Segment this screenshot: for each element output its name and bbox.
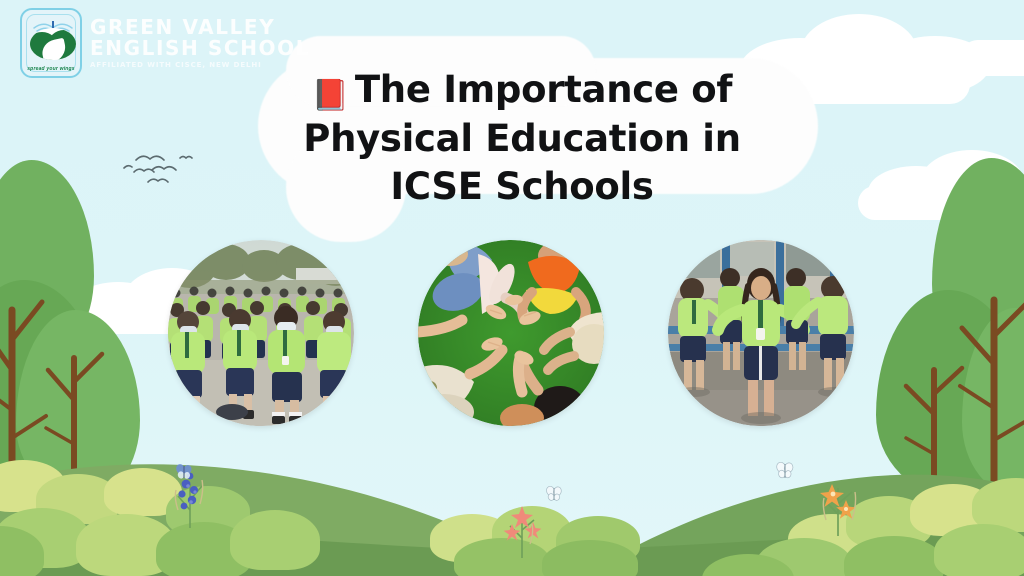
school-name-text: GREEN VALLEY ENGLISH SCHOOL AFFILIATED W…	[90, 8, 310, 69]
flower-cluster-orange	[812, 470, 864, 536]
page-title-line2: Physical Education in	[303, 117, 740, 160]
valley-graphic	[30, 28, 76, 60]
photo-yoga-circle	[418, 240, 604, 426]
closed-book-icon: 📕	[312, 78, 349, 113]
school-name-line1: GREEN VALLEY	[90, 17, 310, 38]
page-title-line1: The Importance of	[355, 68, 732, 111]
butterfly-blue-left	[174, 462, 194, 482]
page-title-line3: ICSE Schools	[390, 165, 653, 208]
logo-tagline: spread your wings	[22, 66, 80, 72]
poster-canvas: spread your wings GREEN VALLEY ENGLISH S…	[0, 0, 1024, 576]
school-name-line2: ENGLISH SCHOOL	[90, 38, 310, 59]
photo-pe-drill	[668, 240, 854, 426]
headline-block: 📕The Importance of Physical Education in…	[262, 66, 782, 211]
butterfly-white-right	[774, 460, 796, 482]
school-affiliation: AFFILIATED WITH CISCE, NEW DELHI	[90, 62, 310, 69]
bush-cluster-left	[0, 452, 320, 576]
bush-cluster-center	[430, 498, 670, 576]
photo-assembly	[168, 240, 354, 426]
page-title: 📕The Importance of Physical Education in…	[262, 66, 782, 211]
school-logo-block[interactable]: spread your wings GREEN VALLEY ENGLISH S…	[20, 8, 310, 78]
school-emblem-icon: spread your wings	[20, 8, 82, 78]
butterfly-white-center	[544, 484, 564, 504]
flower-cluster-pink	[500, 498, 546, 558]
